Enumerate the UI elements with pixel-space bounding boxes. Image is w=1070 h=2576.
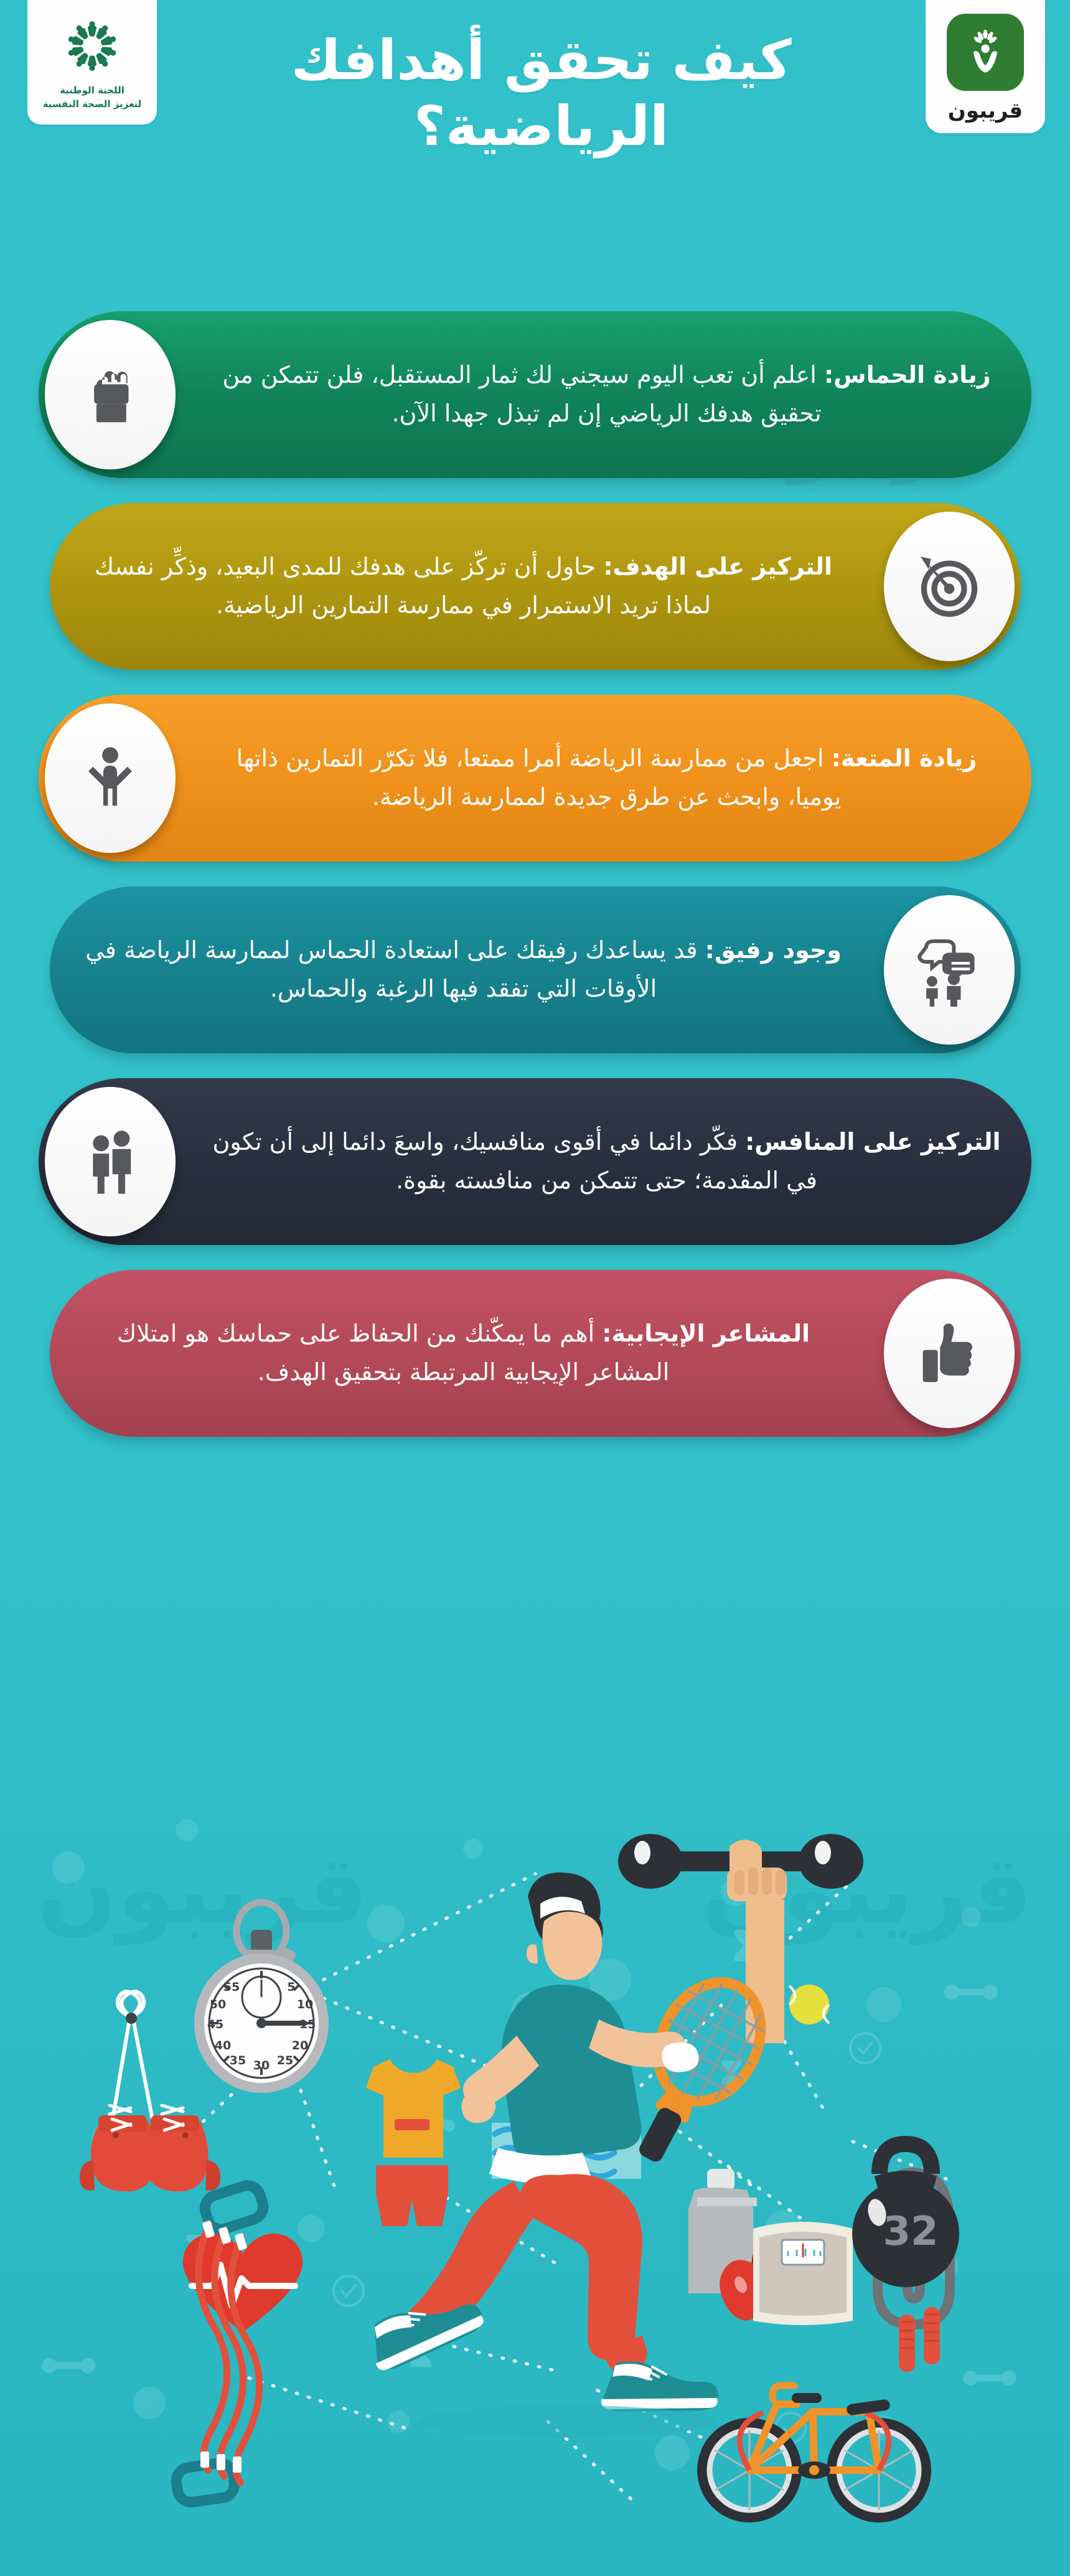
- tip-title: زيادة الحماس:: [824, 361, 991, 388]
- tip-card-body: التركيز على المنافس: فكّر دائما في أقوى …: [182, 1102, 1031, 1221]
- tip-title: المشاعر الإيجابية:: [602, 1320, 810, 1347]
- tip-card-body: زيادة الحماس: اعلم أن تعب اليوم سيجني لك…: [182, 335, 1031, 454]
- tip-card-body: زيادة المتعة: اجعل من ممارسة الرياضة أمر…: [182, 718, 1031, 837]
- tip-icon-badge: [45, 703, 176, 853]
- kettlebell-weight-label: 32: [883, 2209, 938, 2255]
- shoe-right: [601, 2361, 718, 2412]
- tip-title: التركيز على الهدف:: [603, 553, 832, 580]
- shorts-icon: [376, 2165, 448, 2226]
- kettlebell-icon: 32: [852, 2144, 959, 2287]
- committee-logo-line1: اللجنة الوطنية: [43, 84, 142, 98]
- target-arrow-icon: [913, 550, 986, 623]
- two-people-standing-icon: [73, 1125, 147, 1198]
- tip-text: زيادة المتعة: اجعل من ممارسة الرياضة أمر…: [210, 740, 1003, 816]
- stopwatch-icon: 510 1520 2530 3540 4550 55: [194, 1902, 329, 2093]
- fist-icon: [73, 358, 147, 431]
- tip-title: زيادة المتعة:: [832, 745, 977, 772]
- tip-card-positive-feelings[interactable]: المشاعر الإيجابية: أهم ما يمكّنك من الحف…: [50, 1270, 1021, 1437]
- tip-icon-badge: [884, 512, 1015, 661]
- tip-detail: اجعل من ممارسة الرياضة أمرا ممتعا، فلا ت…: [237, 745, 841, 811]
- qaribon-glyph-icon: [955, 22, 1015, 82]
- resistance-band-icon: [175, 2182, 267, 2504]
- tip-text: التركيز على المنافس: فكّر دائما في أقوى …: [210, 1123, 1003, 1200]
- tip-title: التركيز على المنافس:: [745, 1128, 1000, 1155]
- glove-right: [143, 2105, 220, 2191]
- committee-logo-card: اللجنة الوطنية لتعزيز الصحة النفسية: [27, 0, 157, 125]
- svg-text:55: 55: [223, 1980, 240, 1994]
- tip-text: وجود رفيق: قد يساعدك رفيقك على استعادة ا…: [78, 931, 849, 1008]
- tip-card-motivation[interactable]: زيادة الحماس: اعلم أن تعب اليوم سيجني لك…: [39, 311, 1031, 478]
- tip-text: زيادة الحماس: اعلم أن تعب اليوم سيجني لك…: [210, 356, 1003, 433]
- svg-text:40: 40: [215, 2039, 231, 2052]
- svg-text:20: 20: [292, 2039, 308, 2052]
- brand-name-label: قريبون: [948, 98, 1023, 123]
- tip-icon-badge: [45, 320, 176, 469]
- tip-icon-badge: [45, 1087, 176, 1236]
- svg-text:30: 30: [253, 2059, 270, 2072]
- svg-text:25: 25: [277, 2054, 293, 2067]
- tip-card-body: المشاعر الإيجابية: أهم ما يمكّنك من الحف…: [50, 1294, 878, 1413]
- person-arms-up-icon: [73, 741, 147, 815]
- tip-detail: فكّر دائما في أقوى منافسيك، واسعَ دائما …: [212, 1128, 817, 1194]
- tips-list: زيادة الحماس: اعلم أن تعب اليوم سيجني لك…: [0, 311, 1070, 1462]
- svg-text:45: 45: [207, 2018, 223, 2031]
- tip-card-focus-on-rival[interactable]: التركيز على المنافس: فكّر دائما في أقوى …: [39, 1078, 1031, 1245]
- tip-title: وجود رفيق:: [705, 936, 842, 964]
- qaribon-app-icon: [947, 14, 1024, 91]
- brand-badge[interactable]: قريبون: [926, 0, 1045, 133]
- infographic-page: قريبون قريبون قريبون: [0, 0, 1070, 2576]
- tip-card-focus-on-goal[interactable]: التركيز على الهدف: حاول أن تركّز على هدف…: [50, 503, 1021, 670]
- thumbs-up-icon: [913, 1317, 986, 1390]
- tip-detail: اعلم أن تعب اليوم سيجني لك ثمار المستقبل…: [222, 361, 824, 427]
- jersey-and-shorts-icon: [366, 2059, 461, 2226]
- tip-detail: أهم ما يمكّنك من الحفاظ على حماسك هو امت…: [117, 1320, 669, 1386]
- page-title: كيف تحقق أهدافك الرياضية؟: [168, 27, 914, 159]
- bicycle-icon: [702, 2386, 926, 2517]
- tip-text: المشاعر الإيجابية: أهم ما يمكّنك من الحف…: [78, 1315, 849, 1391]
- people-circle-logo-icon: [60, 14, 124, 78]
- svg-text:10: 10: [297, 1998, 313, 2011]
- svg-text:15: 15: [299, 2018, 316, 2031]
- tip-icon-badge: [884, 895, 1015, 1045]
- committee-logo-line2: لتعزيز الصحة النفسية: [43, 98, 142, 111]
- illustration-canvas: 510 1520 2530 3540 4550 55: [0, 1793, 1070, 2576]
- tip-icon-badge: [884, 1279, 1015, 1428]
- tip-card-workout-buddy[interactable]: وجود رفيق: قد يساعدك رفيقك على استعادة ا…: [50, 886, 1021, 1053]
- tip-card-body: وجود رفيق: قد يساعدك رفيقك على استعادة ا…: [50, 910, 878, 1029]
- tip-card-body: التركيز على الهدف: حاول أن تركّز على هدف…: [50, 527, 878, 646]
- tip-card-increase-fun[interactable]: زيادة المتعة: اجعل من ممارسة الرياضة أمر…: [39, 695, 1031, 862]
- header: اللجنة الوطنية لتعزيز الصحة النفسية كيف …: [0, 0, 1070, 261]
- tennis-ball-icon: [789, 1985, 829, 2024]
- rope-handles: [899, 2307, 940, 2372]
- two-people-chat-icon: [913, 933, 986, 1007]
- svg-text:35: 35: [230, 2054, 246, 2067]
- svg-text:50: 50: [210, 1998, 226, 2011]
- sports-illustration: قريبون قريبون: [0, 1793, 1070, 2576]
- tip-detail: قد يساعدك رفيقك على استعادة الحماس لممار…: [85, 936, 705, 1002]
- bathroom-scale-icon: [753, 2222, 853, 2325]
- svg-text:5: 5: [287, 1980, 295, 1994]
- tip-text: التركيز على الهدف: حاول أن تركّز على هدف…: [78, 548, 849, 624]
